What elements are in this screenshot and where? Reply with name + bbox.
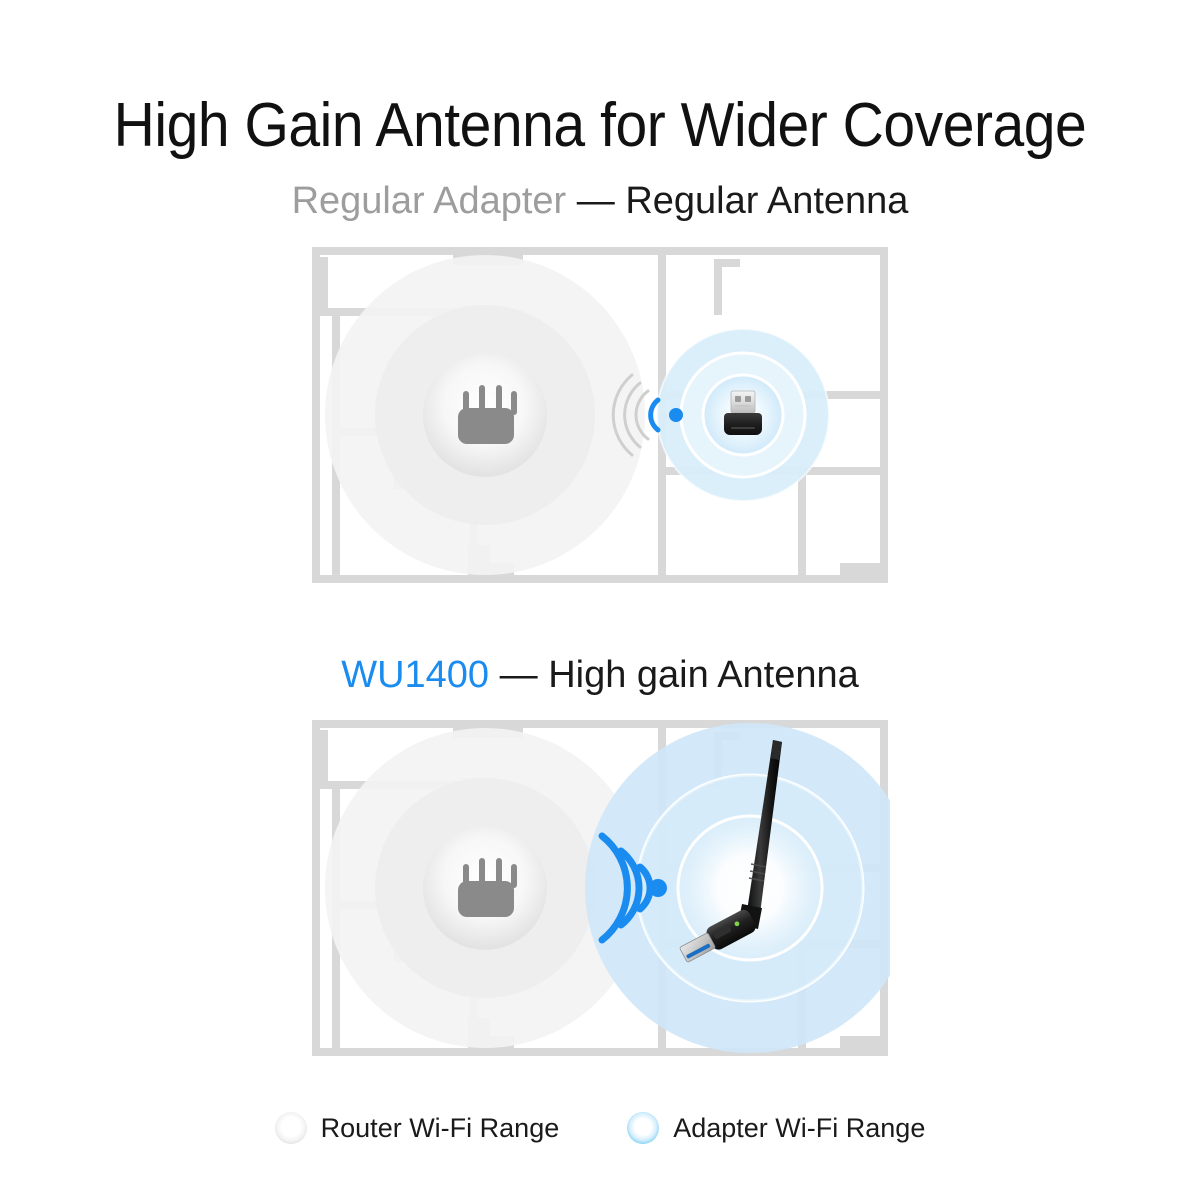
legend-label-router-range: Router Wi-Fi Range bbox=[321, 1113, 560, 1143]
legend-item-adapter-range: Adapter Wi-Fi Range bbox=[627, 1112, 925, 1144]
page-title: High Gain Antenna for Wider Coverage bbox=[48, 90, 1152, 162]
section-caption-regular-secondary: Regular Antenna bbox=[625, 180, 908, 222]
section-caption-regular: Regular Adapter — Regular Antenna bbox=[0, 178, 1200, 224]
legend: Router Wi-Fi Range Adapter Wi-Fi Range bbox=[0, 1112, 1200, 1144]
section-caption-regular-primary: Regular Adapter bbox=[292, 180, 567, 222]
floorplan-diagram-wu1400 bbox=[310, 718, 890, 1058]
legend-label-adapter-range: Adapter Wi-Fi Range bbox=[673, 1113, 925, 1143]
section-caption-wu1400: WU1400 — High gain Antenna bbox=[0, 652, 1200, 698]
blue-range-swatch-icon bbox=[627, 1112, 659, 1144]
section-caption-wu1400-separator: — bbox=[489, 654, 548, 696]
section-caption-wu1400-primary: WU1400 bbox=[341, 654, 489, 696]
gray-range-swatch-icon bbox=[275, 1112, 307, 1144]
floorplan-diagram-regular bbox=[310, 245, 890, 585]
section-caption-regular-separator: — bbox=[566, 180, 625, 222]
section-caption-wu1400-secondary: High gain Antenna bbox=[548, 654, 859, 696]
legend-item-router-range: Router Wi-Fi Range bbox=[275, 1112, 560, 1144]
